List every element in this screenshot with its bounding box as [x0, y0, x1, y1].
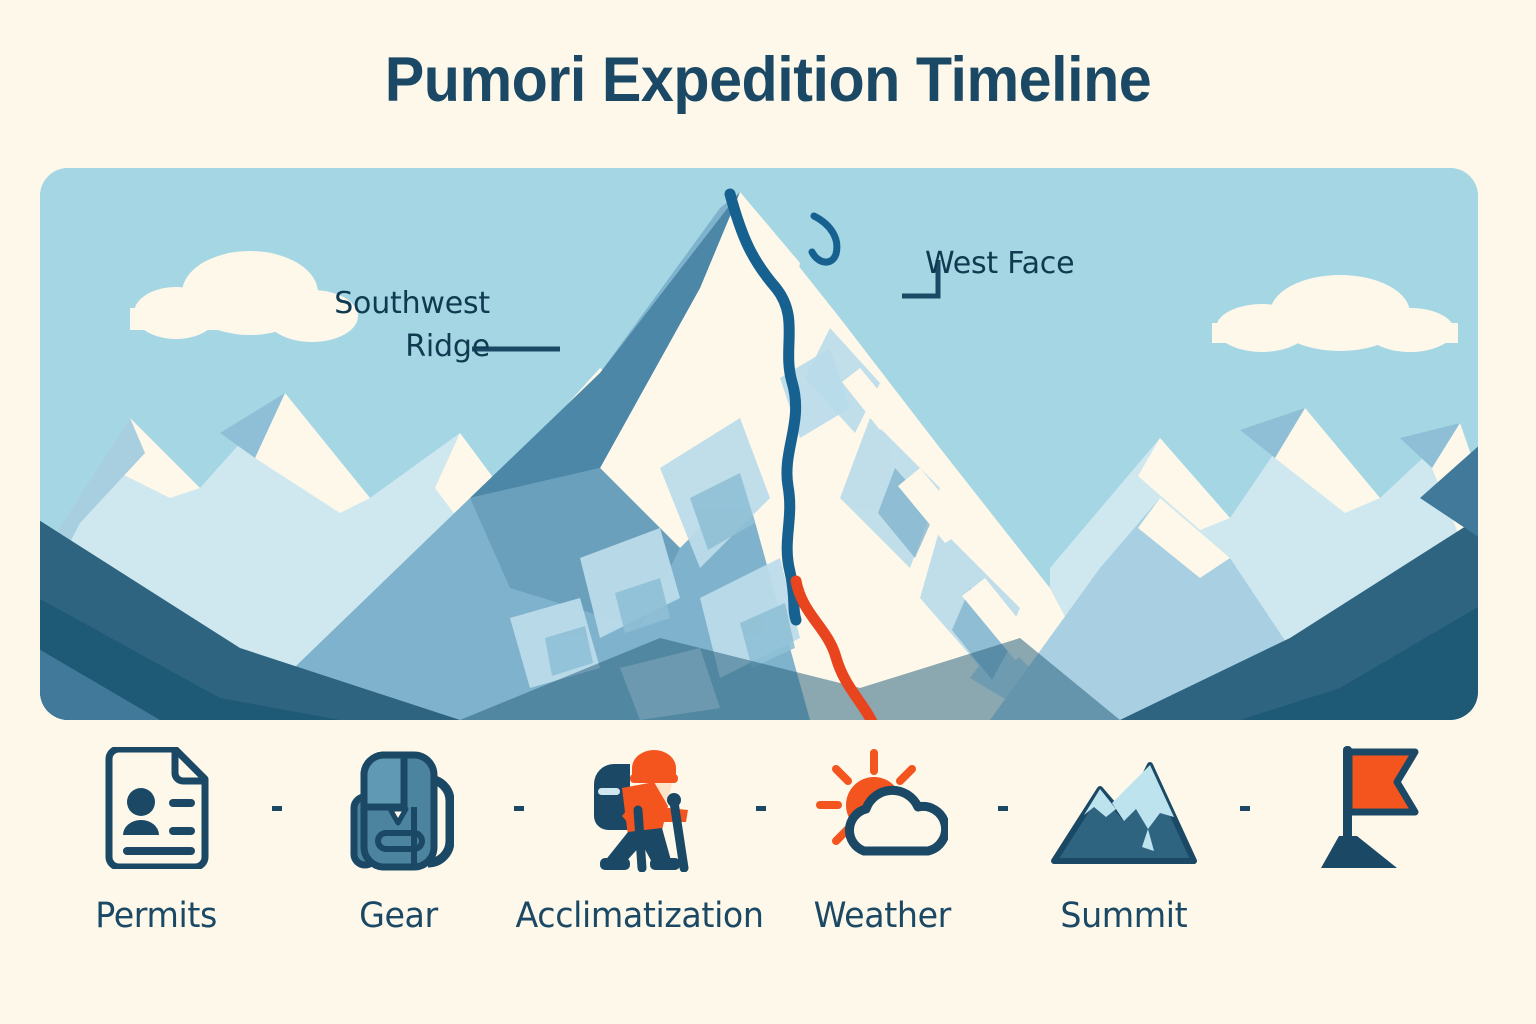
timeline-step-weather[interactable]: Weather	[766, 742, 998, 936]
timeline-label-acclimatization: Acclimatization	[516, 896, 764, 936]
timeline-step-summit[interactable]: Summit	[1008, 742, 1240, 936]
timeline-connector-2	[514, 742, 524, 874]
timeline-step-acclimatization[interactable]: Acclimatization	[524, 742, 756, 936]
timeline-step-permits[interactable]: Permits	[40, 742, 272, 936]
annotation-southwest-ridge-line1: Southwest	[172, 283, 490, 326]
timeline-connector-1	[272, 742, 282, 874]
annotation-west-face: West Face	[925, 243, 1074, 286]
timeline-connector-3	[756, 742, 766, 874]
timeline-step-flag[interactable]	[1250, 742, 1482, 896]
annotation-southwest-ridge-line2: Ridge	[172, 326, 490, 369]
document-person-icon	[101, 742, 211, 874]
timeline-label-weather: Weather	[813, 896, 950, 936]
climber-icon	[576, 742, 704, 874]
annotation-southwest-ridge: Southwest Ridge	[172, 283, 490, 368]
hero-illustration-panel	[40, 168, 1478, 720]
timeline-step-gear[interactable]: Gear	[282, 742, 514, 936]
backpack-icon	[342, 742, 454, 874]
timeline-connector-4	[998, 742, 1008, 874]
expedition-timeline: Permits Gear	[40, 742, 1478, 982]
sun-cloud-icon	[816, 742, 948, 874]
infographic-page: Pumori Expedition Timeline	[0, 0, 1536, 1024]
timeline-label-permits: Permits	[95, 896, 217, 936]
mountain-icon	[1050, 742, 1198, 874]
timeline-connector-5	[1240, 742, 1250, 874]
timeline-label-summit: Summit	[1061, 896, 1188, 936]
flag-icon	[1311, 742, 1421, 874]
mountain-scene	[40, 168, 1478, 720]
page-title: Pumori Expedition Timeline	[46, 44, 1490, 116]
timeline-label-gear: Gear	[359, 896, 438, 936]
